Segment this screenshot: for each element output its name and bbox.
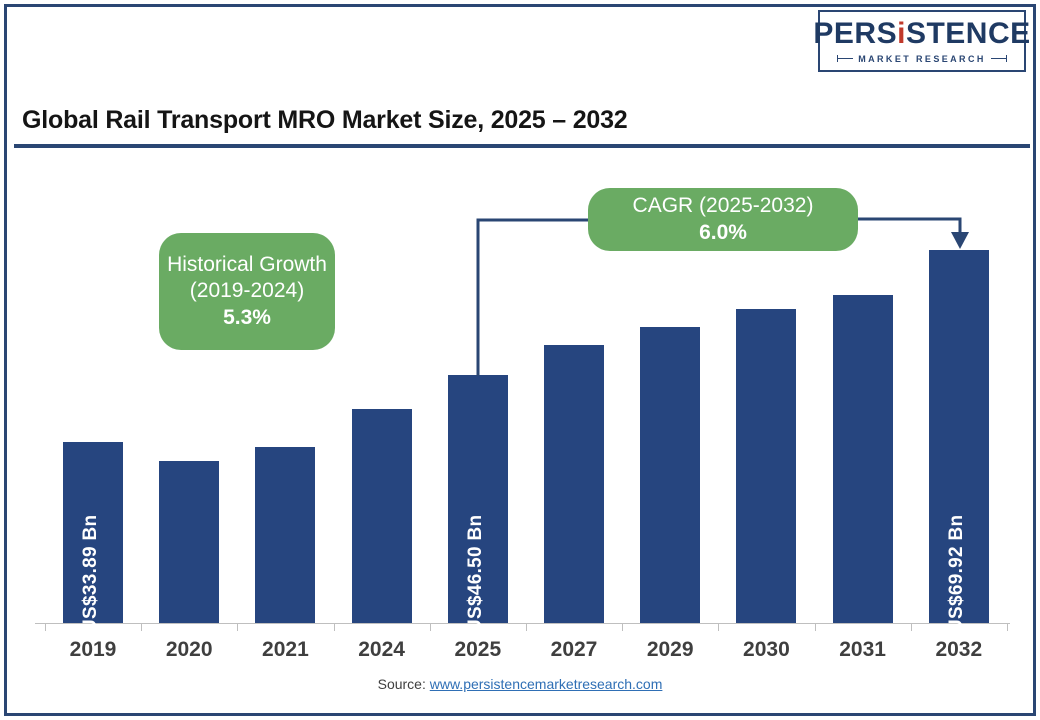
bar-2027 [544, 345, 604, 623]
x-tick-end [1007, 623, 1008, 631]
x-axis-label-2024: 2024 [342, 638, 422, 662]
x-tick-2020 [141, 623, 142, 631]
historical-growth-callout: Historical Growth (2019-2024) 5.3% [159, 233, 335, 350]
x-tick-2029 [622, 623, 623, 631]
cagr-callout: CAGR (2025-2032) 6.0% [588, 188, 858, 251]
bar-2030 [736, 309, 796, 623]
historical-growth-value: 5.3% [223, 305, 271, 331]
bar-2021 [255, 447, 315, 623]
x-tick-2027 [526, 623, 527, 631]
source-link[interactable]: www.persistencemarketresearch.com [430, 676, 663, 692]
source-line: Source: www.persistencemarketresearch.co… [0, 676, 1040, 692]
x-axis-label-2030: 2030 [726, 638, 806, 662]
x-tick-2032 [911, 623, 912, 631]
x-tick-2030 [718, 623, 719, 631]
historical-growth-line2: (2019-2024) [190, 278, 304, 304]
bar-2020 [159, 461, 219, 623]
x-axis-label-2019: 2019 [53, 638, 133, 662]
x-axis-label-2020: 2020 [149, 638, 229, 662]
bar-value-label-2032: US$69.92 Bn [946, 515, 968, 633]
x-axis-label-2031: 2031 [823, 638, 903, 662]
historical-growth-line1: Historical Growth [167, 252, 327, 278]
x-axis-label-2021: 2021 [245, 638, 325, 662]
x-axis-line [35, 623, 1010, 624]
cagr-line1: CAGR (2025-2032) [633, 193, 814, 219]
x-axis-label-2032: 2032 [919, 638, 999, 662]
cagr-value: 6.0% [699, 220, 747, 246]
x-axis-label-2025: 2025 [438, 638, 518, 662]
x-axis-label-2027: 2027 [534, 638, 614, 662]
bar-2024 [352, 409, 412, 623]
bar-value-label-2025: US$46.50 Bn [465, 515, 487, 633]
bar-2029 [640, 327, 700, 623]
x-tick-2031 [815, 623, 816, 631]
bar-value-label-2019: US$33.89 Bn [80, 515, 102, 633]
bar-2031 [833, 295, 893, 623]
x-tick-2024 [334, 623, 335, 631]
x-tick-2025 [430, 623, 431, 631]
chart-page: PERSiSTENCE MARKET RESEARCH Global Rail … [0, 0, 1040, 720]
source-prefix: Source: [378, 676, 430, 692]
x-tick-2021 [237, 623, 238, 631]
chart-plot-area: US$33.89 BnUS$46.50 BnUS$69.92 Bn 201920… [0, 0, 1040, 720]
x-axis-label-2029: 2029 [630, 638, 710, 662]
x-tick-2019 [45, 623, 46, 631]
